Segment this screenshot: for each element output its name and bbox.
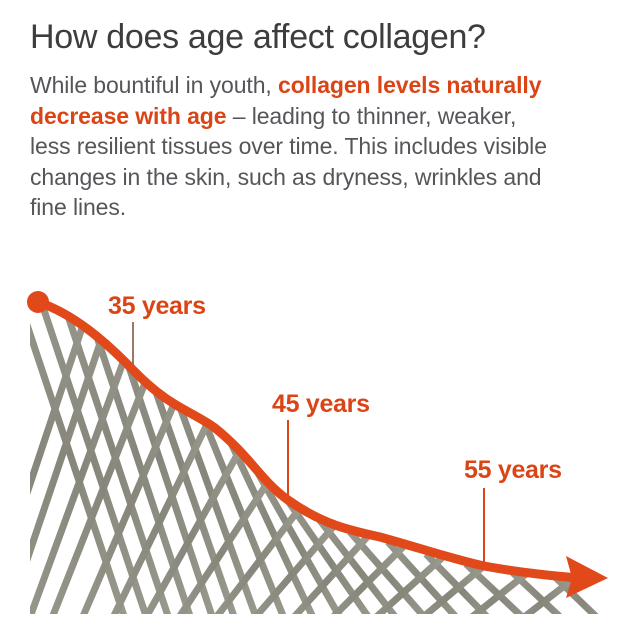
page-title: How does age affect collagen? (30, 18, 610, 56)
start-dot-marker (27, 291, 49, 313)
annotation-label-55-years: 55 years (464, 456, 562, 485)
body-copy: While bountiful in youth, collagen level… (30, 70, 560, 223)
collagen-age-infographic: 35 years 45 years 55 years How does age … (0, 0, 640, 640)
arrowhead-right-icon (566, 556, 608, 598)
body-copy-lead: While bountiful in youth, (30, 72, 278, 98)
annotation-label-45-years: 45 years (272, 390, 370, 419)
annotation-label-35-years: 35 years (108, 292, 206, 321)
headline-and-copy: How does age affect collagen? While boun… (30, 18, 610, 223)
